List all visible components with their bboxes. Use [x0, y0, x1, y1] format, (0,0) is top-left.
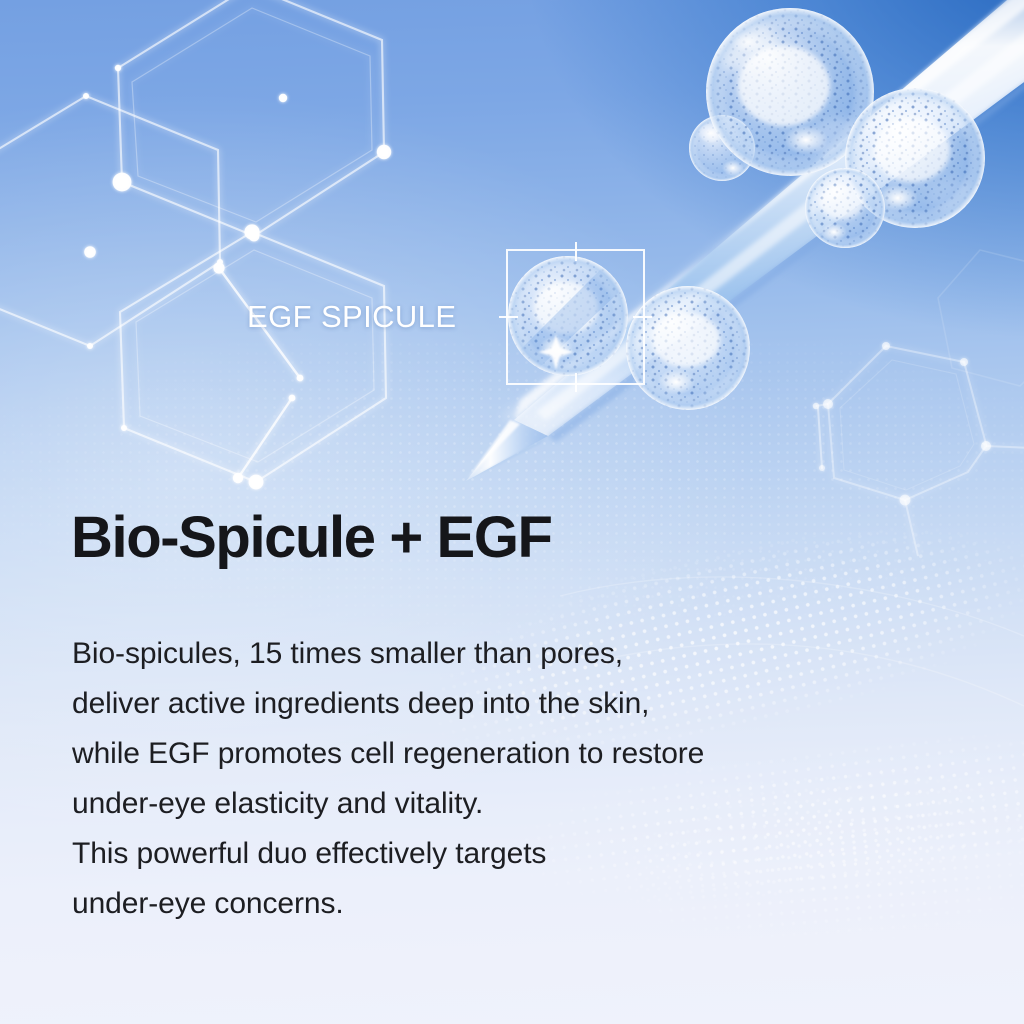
body-line: under-eye elasticity and vitality.	[72, 779, 972, 829]
body-line: Bio-spicules, 15 times smaller than pore…	[72, 629, 972, 679]
body-copy: Bio-spicules, 15 times smaller than pore…	[72, 629, 972, 929]
body-line: deliver active ingredients deep into the…	[72, 679, 972, 729]
body-line: under-eye concerns.	[72, 879, 972, 929]
callout-label: EGF SPICULE	[247, 301, 456, 332]
body-line: This powerful duo effectively targets	[72, 829, 972, 879]
frame-tick-right-icon	[633, 316, 652, 318]
frame-tick-top-icon	[575, 242, 577, 261]
body-line: while EGF promotes cell regeneration to …	[72, 729, 972, 779]
product-feature-poster: EGF SPICULE Bio-Spicule + EGF Bio-spicul…	[0, 0, 1024, 1024]
page-title: Bio-Spicule + EGF	[71, 508, 552, 569]
halftone-dots-icon	[0, 340, 1024, 640]
target-frame-icon	[506, 249, 645, 385]
frame-tick-left-icon	[499, 316, 518, 318]
frame-tick-bottom-icon	[575, 373, 577, 392]
